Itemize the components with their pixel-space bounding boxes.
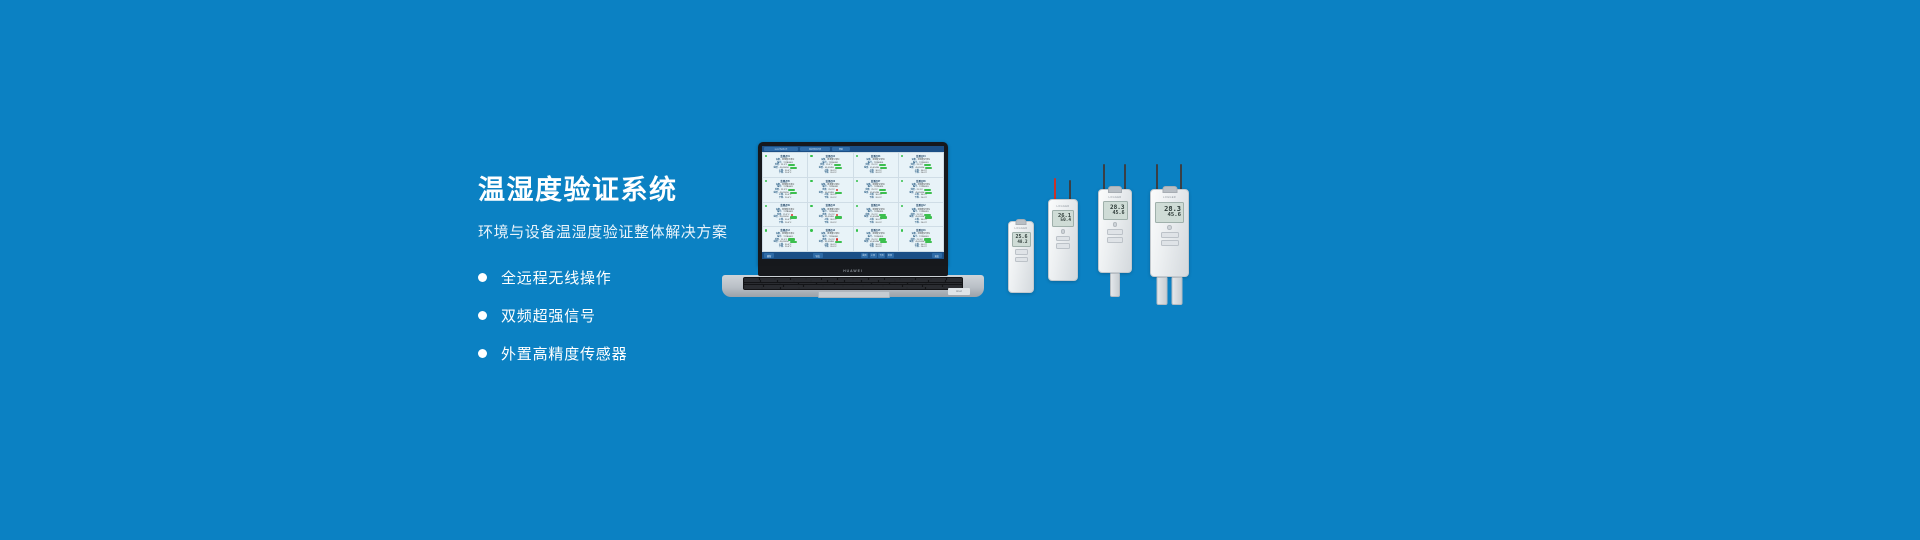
sticker-label: intel [956,290,962,293]
field-key: 湿度: [864,241,869,243]
monitor-card-row: 下限:20.0℃ [869,222,881,224]
monitor-card-title: 监测点11 [871,205,880,207]
field-key: 湿度: [774,216,779,218]
field-key: 下限: [915,197,920,199]
device-lcd-display: 28.3 45.6 [1103,201,1128,220]
monitor-card-row: 下限:20.0℃ [824,172,836,174]
monitor-card[interactable]: 监测点04设备:温湿度记录仪编号:T22B0801温度:25.3℃湿度:45.6… [899,153,943,177]
status-led-icon [1061,229,1066,234]
app-toolbar: 刷新 导出 首页上页下页末页 退出 [762,252,944,259]
monitor-card-row: 下限:20.0℃ [915,222,927,224]
device-button[interactable] [1015,249,1028,255]
export-button[interactable]: 导出 [813,253,823,258]
status-led-icon [765,229,767,231]
status-led-icon [901,205,903,207]
feature-label: 外置高精度传感器 [501,343,627,364]
bullet-icon [478,273,487,282]
field-key: 湿度: [864,192,869,194]
device-keypad [1107,222,1123,243]
pagination-button[interactable]: 下页 [878,253,885,258]
device-lcd-display: 26.1 50.4 [1052,210,1074,227]
field-key: 下限: [779,172,784,174]
field-key: 湿度: [774,192,779,194]
status-led-icon [856,205,858,207]
status-led-icon [810,205,812,207]
status-led-icon [1167,225,1172,230]
status-led-icon [856,155,858,157]
status-led-icon [810,180,812,182]
exit-button[interactable]: 退出 [932,253,942,258]
monitor-card[interactable]: 监测点08设备:温湿度记录仪编号:T22B0801温度:25.3℃湿度:45.6… [899,178,943,202]
monitor-card-row: 下限:20.0℃ [779,222,791,224]
monitor-card[interactable]: 监测点03设备:温湿度记录仪编号:T22B0801温度:25.3℃湿度:45.6… [854,153,898,177]
field-key: 下限: [779,246,784,248]
list-item: 外置高精度传感器 [478,343,908,364]
field-key: 湿度: [774,167,779,169]
monitor-card[interactable]: 监测点14设备:温湿度记录仪编号:T22B0801温度:25.3℃湿度:45.6… [808,227,852,251]
monitor-card-title: 监测点05 [780,181,789,183]
laptop-trackpad [818,291,890,298]
external-probe-icon [1172,277,1183,305]
monitor-card-title: 监测点03 [871,156,880,158]
field-key: 下限: [824,197,829,199]
field-key: 下限: [869,246,874,248]
device-button[interactable] [1056,236,1070,242]
field-key: 湿度: [909,241,914,243]
hero-banner: 温湿度验证系统 环境与设备温湿度验证整体解决方案 全远程无线操作 双频超强信号 … [0,0,1920,540]
laptop-product-image: 2021年8月1日 验证项目记录 帮助 监测点01设备:温湿度记录仪编号:T22… [722,142,984,297]
field-key: 下限: [824,172,829,174]
device-keypad [1015,249,1028,262]
monitor-card[interactable]: 监测点10设备:温湿度记录仪编号:T22B0801温度:25.3℃湿度:45.6… [808,203,852,227]
refresh-button[interactable]: 刷新 [764,253,774,258]
field-value: 20.0℃ [921,246,927,248]
laptop-lid: 2021年8月1日 验证项目记录 帮助 监测点01设备:温湿度记录仪编号:T22… [758,142,948,266]
monitor-card-row: 下限:20.0℃ [915,197,927,199]
pagination-button[interactable]: 末页 [887,253,894,258]
monitor-card-title: 监测点06 [826,181,835,183]
device-button[interactable] [1056,243,1070,249]
field-key: 湿度: [819,167,824,169]
monitor-card[interactable]: 监测点01设备:温湿度记录仪编号:T22B0801温度:25.3℃湿度:45.6… [763,153,807,177]
monitor-card-row: 下限:20.0℃ [915,172,927,174]
monitor-card[interactable]: 监测点05设备:温湿度记录仪编号:T22B0801温度:25.3℃湿度:45.6… [763,178,807,202]
tab-date[interactable]: 2021年8月1日 [764,147,798,152]
field-key: 湿度: [774,241,779,243]
field-value: 20.0℃ [875,172,881,174]
monitor-card-grid: 监测点01设备:温湿度记录仪编号:T22B0801温度:25.3℃湿度:45.6… [762,152,944,252]
status-led-icon [856,229,858,231]
pagination-button[interactable]: 首页 [861,253,868,258]
device-button[interactable] [1161,240,1179,246]
field-value: 20.0℃ [921,172,927,174]
device-dualband-logger: LOGGER 28.3 45.6 [1098,189,1132,273]
monitor-card-title: 监测点12 [916,205,925,207]
field-value: 20.0℃ [830,172,836,174]
field-key: 下限: [869,222,874,224]
bullet-icon [478,349,487,358]
antenna-icon [1103,164,1105,190]
monitor-card[interactable]: 监测点13设备:温湿度记录仪编号:T22B0801温度:25.3℃湿度:45.6… [763,227,807,251]
status-led-icon [810,229,812,231]
status-led-icon [901,229,903,231]
monitor-card-title: 监测点09 [780,205,789,207]
antenna-icon [1156,164,1158,190]
antenna-icon [1180,164,1182,190]
status-led-icon [810,155,812,157]
external-probe-icon [1110,273,1120,297]
external-probe-icon [1156,277,1167,305]
monitor-card-row: 下限:20.0℃ [869,246,881,248]
monitor-card[interactable]: 监测点02设备:温湿度记录仪编号:T22B0801温度:25.3℃湿度:45.6… [808,153,852,177]
field-value: 20.0℃ [830,222,836,224]
field-value: 20.0℃ [830,246,836,248]
monitor-card-row: 下限:20.0℃ [824,222,836,224]
lcd-humidity: 50.4 [1060,219,1071,223]
field-key: 下限: [915,246,920,248]
monitor-card-title: 监测点10 [826,205,835,207]
device-validator: LOGGER 28.3 45.6 [1150,189,1189,277]
status-led-icon [765,180,767,182]
monitor-card[interactable]: 监测点11设备:温湿度记录仪编号:T22B0801温度:25.3℃湿度:45.6… [854,203,898,227]
pagination-button[interactable]: 上页 [870,253,877,258]
device-button[interactable] [1107,237,1123,243]
tab-help[interactable]: 帮助 [832,147,850,152]
field-key: 下限: [869,197,874,199]
bullet-icon [478,311,487,320]
field-key: 下限: [824,246,829,248]
monitor-card-row: 下限:20.0℃ [869,172,881,174]
field-key: 湿度: [909,216,914,218]
field-key: 湿度: [819,192,824,194]
list-item: 双频超强信号 [478,305,908,326]
feature-label: 双频超强信号 [501,305,596,326]
field-value: 20.0℃ [921,222,927,224]
field-key: 湿度: [864,167,869,169]
laptop-sticker: intel [948,288,970,295]
monitor-card[interactable]: 监测点16设备:温湿度记录仪编号:T22B0801温度:25.3℃湿度:45.6… [899,227,943,251]
monitor-card[interactable]: 监测点12设备:温湿度记录仪编号:T22B0801温度:25.3℃湿度:45.6… [899,203,943,227]
monitor-card-row: 下限:20.0℃ [779,172,791,174]
antenna-icon [1124,164,1126,190]
antenna-icon [1069,180,1071,200]
device-brand-label: LOGGER [1015,227,1028,230]
lcd-humidity: 45.6 [1112,211,1124,216]
laptop-bezel-chin: HUAWEI [758,266,948,276]
status-led-icon [765,155,767,157]
field-value: 20.0℃ [830,197,836,199]
status-led-icon [901,180,903,182]
device-keypad [1056,229,1070,249]
monitor-card[interactable]: 监测点06设备:温湿度记录仪编号:T22B0801温度:25.3℃湿度:45.6… [808,178,852,202]
field-key: 下限: [779,197,784,199]
status-led-icon [765,205,767,207]
device-brand-label: LOGGER [1109,196,1122,199]
tab-records[interactable]: 验证项目记录 [800,147,830,152]
field-value: 20.0℃ [875,246,881,248]
device-brand-label: LOGGER [1163,196,1176,199]
device-button[interactable] [1015,257,1028,263]
lcd-humidity: 48.2 [1017,240,1027,244]
monitor-card-title: 监测点01 [780,156,789,158]
field-value: 20.0℃ [785,172,791,174]
device-brand-label: LOGGER [1057,205,1070,208]
monitor-card-row: 下限:20.0℃ [869,197,881,199]
lcd-humidity: 45.6 [1168,213,1181,219]
laptop-brand-label: HUAWEI [843,269,863,273]
monitor-card[interactable]: 监测点07设备:温湿度记录仪编号:T22B0801温度:25.3℃湿度:45.6… [854,178,898,202]
field-key: 湿度: [819,241,824,243]
device-button[interactable] [1161,232,1179,238]
monitor-card-row: 下限:20.0℃ [779,197,791,199]
field-key: 下限: [915,222,920,224]
feature-label: 全远程无线操作 [501,267,612,288]
field-value: 20.0℃ [785,246,791,248]
field-value: 20.0℃ [785,197,791,199]
monitor-card-title: 监测点08 [916,181,925,183]
sensor-device-group: LOGGER 25.6 48.2 LOGGER 26.1 50.4 [1000,185,1220,320]
device-probe-logger: LOGGER 26.1 50.4 [1048,199,1078,281]
monitor-card-row: 下限:20.0℃ [779,246,791,248]
device-keypad [1161,225,1179,246]
laptop-screen: 2021年8月1日 验证项目记录 帮助 监测点01设备:温湿度记录仪编号:T22… [762,146,944,259]
field-key: 下限: [915,172,920,174]
device-handheld-logger: LOGGER 25.6 48.2 [1008,221,1034,293]
field-key: 下限: [824,222,829,224]
field-value: 20.0℃ [875,222,881,224]
status-led-icon [901,155,903,157]
monitor-card-row: 下限:20.0℃ [915,246,927,248]
field-value: 20.0℃ [921,197,927,199]
monitor-card-row: 下限:20.0℃ [824,197,836,199]
device-lcd-display: 28.3 45.6 [1155,202,1184,223]
field-key: 湿度: [909,167,914,169]
device-button[interactable] [1107,229,1123,235]
pagination: 首页上页下页末页 [861,253,894,258]
field-key: 下限: [779,222,784,224]
monitor-card-title: 监测点07 [871,181,880,183]
status-led-icon [1113,222,1118,227]
field-key: 下限: [869,172,874,174]
status-led-icon [856,180,858,182]
monitor-card-title: 监测点02 [826,156,835,158]
laptop-keyboard [743,277,963,290]
monitor-card-title: 监测点04 [916,156,925,158]
field-key: 湿度: [819,216,824,218]
monitor-card[interactable]: 监测点15设备:温湿度记录仪编号:T22B0801温度:25.3℃湿度:45.6… [854,227,898,251]
field-value: 20.0℃ [875,197,881,199]
field-value: 20.0℃ [785,222,791,224]
antenna-icon [1054,178,1056,200]
monitor-card-row: 下限:20.0℃ [824,246,836,248]
key-row [744,287,962,289]
device-lcd-display: 25.6 48.2 [1012,232,1031,247]
field-key: 湿度: [864,216,869,218]
field-key: 湿度: [909,192,914,194]
monitor-card[interactable]: 监测点09设备:温湿度记录仪编号:T22B0801温度:25.3℃湿度:45.6… [763,203,807,227]
